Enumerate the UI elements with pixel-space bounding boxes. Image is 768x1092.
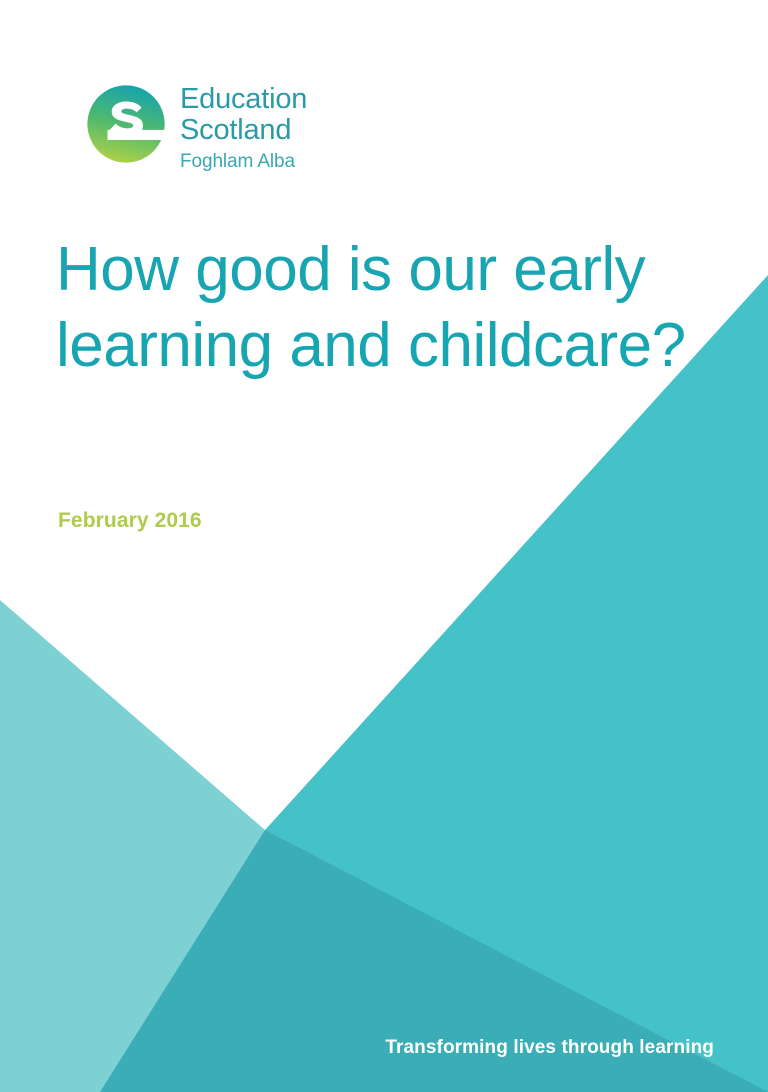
logo-line-scotland: Scotland	[180, 115, 307, 146]
education-scotland-logo: Education Scotland Foghlam Alba	[84, 82, 307, 172]
page-title: How good is our early learning and child…	[56, 232, 696, 384]
logo-wordmark: Education Scotland Foghlam Alba	[180, 82, 307, 172]
cover-page: Education Scotland Foghlam Alba How good…	[0, 0, 768, 1092]
logo-line-education: Education	[180, 84, 307, 115]
strapline: Transforming lives through learning	[385, 1036, 714, 1060]
logo-line-foghlam-alba: Foghlam Alba	[180, 151, 307, 172]
education-scotland-e-roundel-icon	[84, 82, 168, 166]
publication-date: February 2016	[58, 508, 202, 534]
